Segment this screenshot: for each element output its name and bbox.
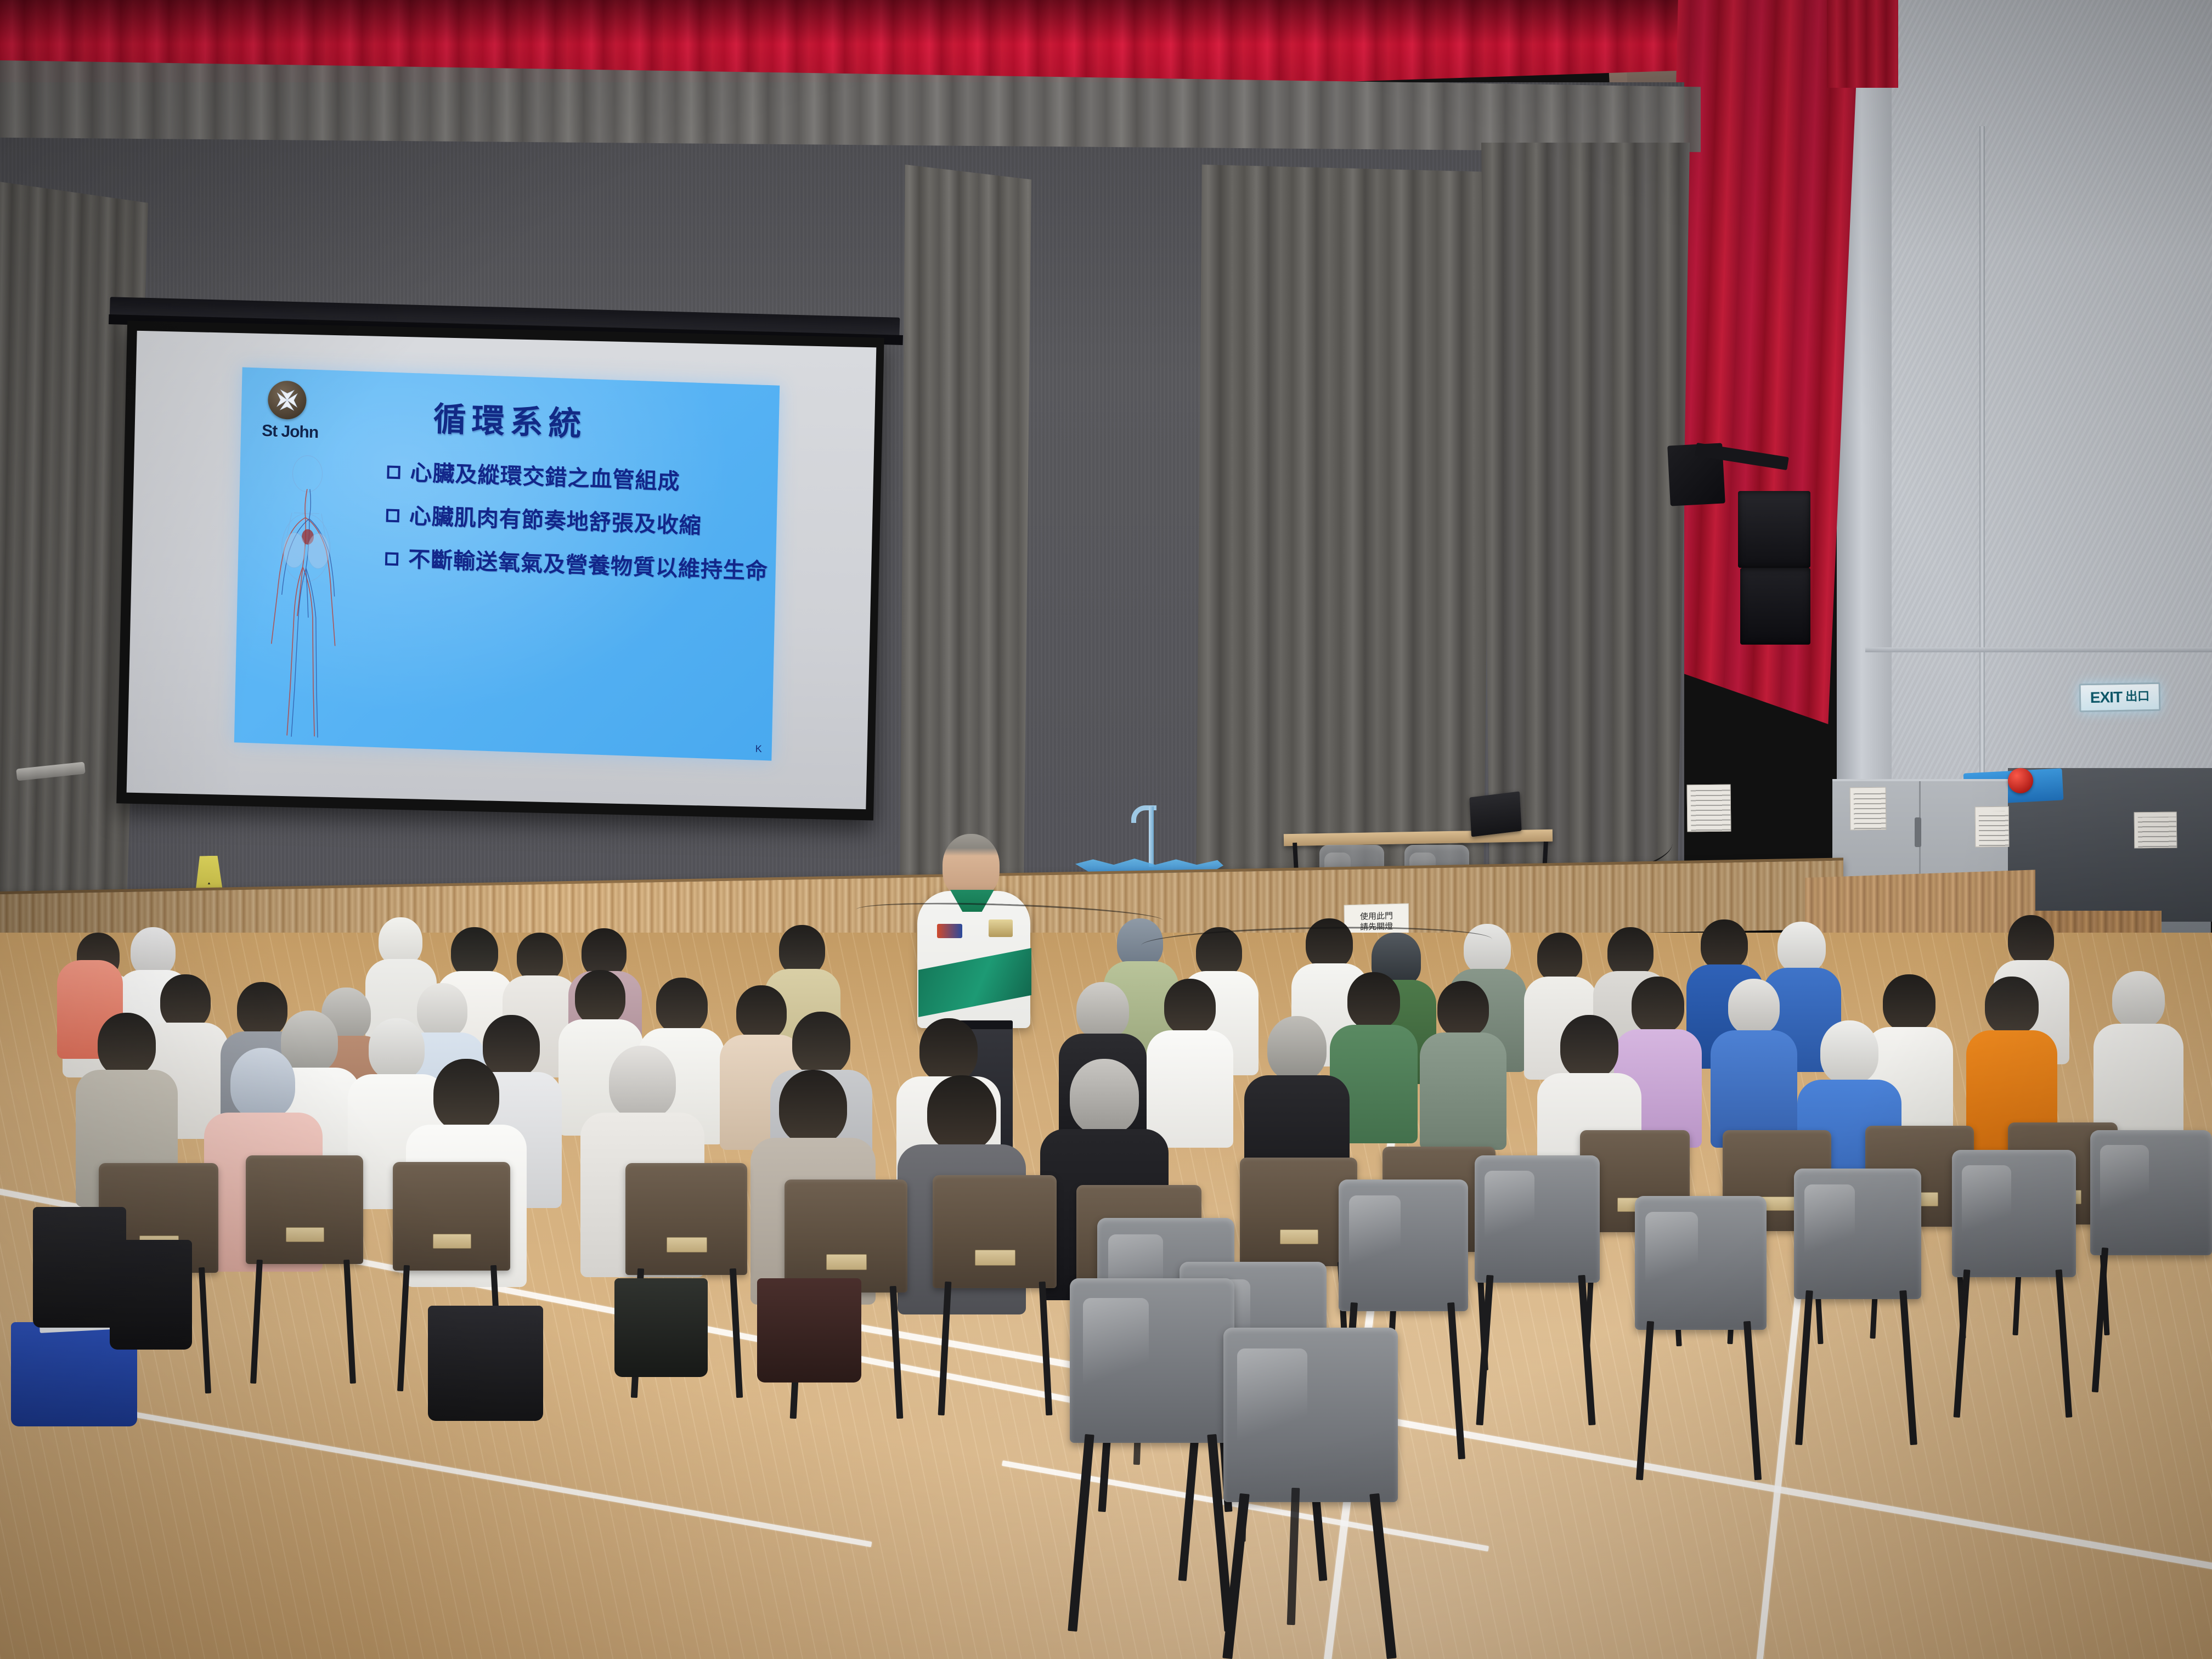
stage-curtain-mid-2: [1196, 165, 1492, 900]
person-head: [1560, 1015, 1618, 1079]
person-head: [517, 933, 563, 982]
checkbox-bullet-icon: [387, 465, 400, 479]
chair-grey-front[interactable]: [1070, 1278, 1234, 1443]
person-head: [2008, 915, 2054, 966]
fire-alarm-bell-icon: [2008, 768, 2033, 793]
wall-pipe-horizontal: [1865, 647, 2212, 652]
laptop-icon[interactable]: [1469, 791, 1521, 837]
chair-brown[interactable]: [933, 1175, 1057, 1288]
person-head: [1267, 1016, 1327, 1081]
slide-bullet-item: 心臟肌肉有節奏地舒張及收縮: [386, 502, 770, 542]
wall-notice: [1850, 787, 1887, 831]
stage-notice-line1: 使用此門: [1360, 911, 1393, 922]
hall-scene: St John: [0, 0, 2212, 1659]
hall-right-wall: [1865, 0, 2212, 845]
presenter-head: [943, 834, 1000, 899]
stage-curtain-mid: [900, 165, 1031, 911]
projected-slide: St John: [234, 367, 780, 760]
slide-bullet-text: 不斷輸送氧氣及營養物質以維持生命: [408, 546, 769, 585]
person-head: [1728, 979, 1780, 1035]
slide-bullet-item: 不斷輸送氧氣及營養物質以維持生命: [385, 545, 770, 585]
wall-texture: [1865, 0, 2212, 845]
person-head: [1607, 927, 1654, 978]
slide-bullet-list: 心臟及縱環交錯之血管組成 心臟肌肉有節奏地舒張及收縮 不斷輸送氧氣及營養物質以維…: [385, 459, 771, 601]
loudspeaker-icon: [1738, 491, 1810, 568]
person-torso: [1420, 1032, 1506, 1150]
person-head: [919, 1018, 978, 1082]
person-torso: [1147, 1030, 1233, 1148]
chair-grey-empty[interactable]: [1952, 1150, 2076, 1277]
slide-bullet-text: 心臟肌肉有節奏地舒張及收縮: [409, 503, 702, 540]
cabinet-handle[interactable]: [1915, 817, 1921, 847]
person-head: [160, 974, 211, 1029]
chair-grey-empty[interactable]: [1339, 1180, 1468, 1311]
loudspeaker-icon: [1740, 568, 1810, 645]
person-head: [433, 1059, 499, 1131]
stage-curtain-right: [1481, 143, 1690, 900]
person-head: [1464, 924, 1511, 974]
person-head: [230, 1048, 295, 1119]
umbrella-shaft: [1149, 806, 1154, 867]
person-head: [575, 970, 625, 1025]
person-head: [369, 1018, 425, 1080]
person-head: [98, 1013, 156, 1076]
chair-grey-empty[interactable]: [2090, 1130, 2212, 1255]
person-head: [417, 983, 467, 1038]
person-head: [483, 1015, 540, 1077]
person-head: [1985, 977, 2039, 1035]
chair-grey-empty[interactable]: [1475, 1155, 1600, 1283]
slide-title: 循環系統: [241, 386, 779, 452]
checkbox-bullet-icon: [385, 552, 399, 566]
chair-grey-empty[interactable]: [1635, 1196, 1767, 1330]
person-head: [131, 927, 176, 977]
slide-page-mark: K: [755, 743, 762, 755]
person-head: [1778, 922, 1826, 973]
person-head: [779, 1070, 847, 1144]
chair-grey-front[interactable]: [1223, 1328, 1398, 1502]
person-head: [1883, 974, 1936, 1031]
brown-bag: [757, 1278, 861, 1383]
wall-notice: [2134, 812, 2177, 849]
person-head: [1632, 977, 1684, 1034]
wall-notice: [1687, 785, 1731, 832]
slide-bullet-text: 心臟及縱環交錯之血管組成: [410, 460, 680, 496]
person-head: [927, 1075, 996, 1151]
exit-sign-label: EXIT: [2090, 689, 2123, 707]
exit-sign: EXIT 出口: [2079, 682, 2161, 713]
black-backpack: [428, 1306, 543, 1421]
chair-brown[interactable]: [625, 1163, 747, 1275]
person-head: [1537, 933, 1582, 982]
slide-bullet-item: 心臟及縱環交錯之血管組成: [387, 459, 771, 499]
person-head: [792, 1012, 850, 1075]
person-head: [379, 917, 422, 966]
chair-grey-empty[interactable]: [1794, 1169, 1921, 1299]
chair-brown[interactable]: [393, 1162, 510, 1271]
person-head: [779, 925, 825, 975]
person-head: [1820, 1020, 1878, 1084]
checkbox-bullet-icon: [386, 509, 400, 522]
exit-sign-chinese: 出口: [2125, 692, 2149, 702]
dark-bag: [614, 1278, 708, 1377]
wall-pipe-vertical: [1979, 126, 1985, 839]
person-head: [609, 1046, 676, 1119]
red-side-curtain-top: [1827, 0, 1898, 88]
circulatory-system-illustration: [244, 450, 365, 744]
presenter-badge: [937, 924, 962, 938]
person-head: [451, 927, 498, 978]
person-head: [1701, 919, 1748, 970]
person-head: [736, 985, 787, 1040]
black-bag: [110, 1240, 192, 1350]
wall-notice: [1975, 806, 2010, 848]
person-head: [656, 978, 708, 1034]
person-head: [1070, 1059, 1139, 1135]
chair-brown[interactable]: [785, 1180, 907, 1293]
chair-brown[interactable]: [246, 1155, 363, 1264]
person-head: [1164, 979, 1216, 1035]
person-head: [1347, 972, 1400, 1029]
person-head: [2112, 971, 2165, 1028]
person-head: [1437, 981, 1489, 1037]
person-head: [1076, 982, 1129, 1039]
person-head: [237, 982, 287, 1037]
